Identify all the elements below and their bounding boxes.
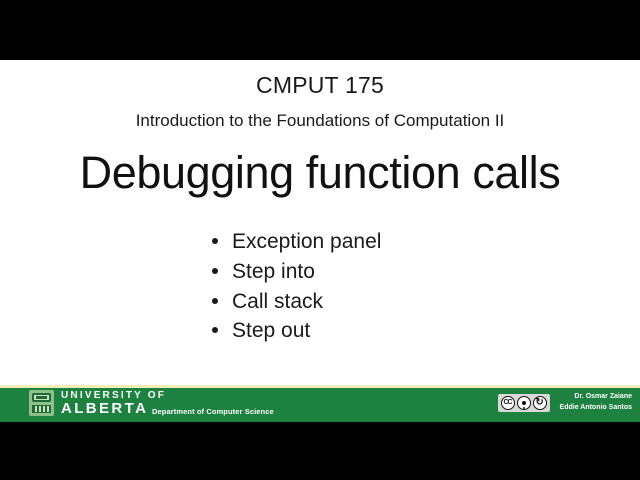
footer-right-group: CC ↻ Dr. Osmar Zaiane Eddie Antonio Sant… [498, 392, 632, 413]
department-name: Department of Computer Science [152, 407, 274, 416]
list-item-label: Exception panel [232, 230, 381, 253]
letterbox-bottom [0, 422, 640, 480]
course-name: Introduction to the Foundations of Compu… [0, 111, 640, 131]
logo-base-shape [32, 405, 51, 413]
list-item: Exception panel [200, 227, 440, 257]
list-item-label: Step into [232, 260, 315, 283]
presentation-slide: CMPUT 175 Introduction to the Foundation… [0, 60, 640, 422]
cc-sa-icon: ↻ [533, 396, 547, 410]
list-item: Step out [200, 316, 440, 346]
author-name: Eddie Antonio Santos [560, 403, 632, 414]
slide-footer: UNIVERSITY OF ALBERTA Department of Comp… [0, 385, 640, 422]
creative-commons-license: CC ↻ [498, 394, 550, 412]
bullet-icon [212, 298, 218, 304]
bullet-icon [212, 238, 218, 244]
topic-list: Exception panel Step into Call stack Ste… [0, 227, 640, 346]
university-logo-icon [29, 390, 54, 416]
author-credits: Dr. Osmar Zaiane Eddie Antonio Santos [560, 392, 632, 413]
university-line-2: ALBERTA [61, 401, 166, 416]
university-branding: UNIVERSITY OF ALBERTA [29, 390, 166, 416]
bullet-icon [212, 327, 218, 333]
list-item: Step into [200, 257, 440, 287]
list-item: Call stack [200, 287, 440, 317]
course-code: CMPUT 175 [0, 72, 640, 99]
cc-logo-icon: CC [501, 396, 515, 410]
list-item-label: Call stack [232, 290, 323, 313]
bullet-icon [212, 268, 218, 274]
list-item-label: Step out [232, 319, 310, 342]
footer-accent-rule [0, 385, 640, 388]
slide-viewport: CMPUT 175 Introduction to the Foundation… [0, 0, 640, 480]
author-name: Dr. Osmar Zaiane [560, 392, 632, 403]
logo-spine-shape [36, 396, 47, 399]
slide-content-area: CMPUT 175 Introduction to the Foundation… [0, 60, 640, 385]
letterbox-top [0, 0, 640, 60]
cc-by-icon [517, 396, 531, 410]
page-title: Debugging function calls [0, 148, 640, 198]
university-wordmark: UNIVERSITY OF ALBERTA [61, 390, 166, 416]
